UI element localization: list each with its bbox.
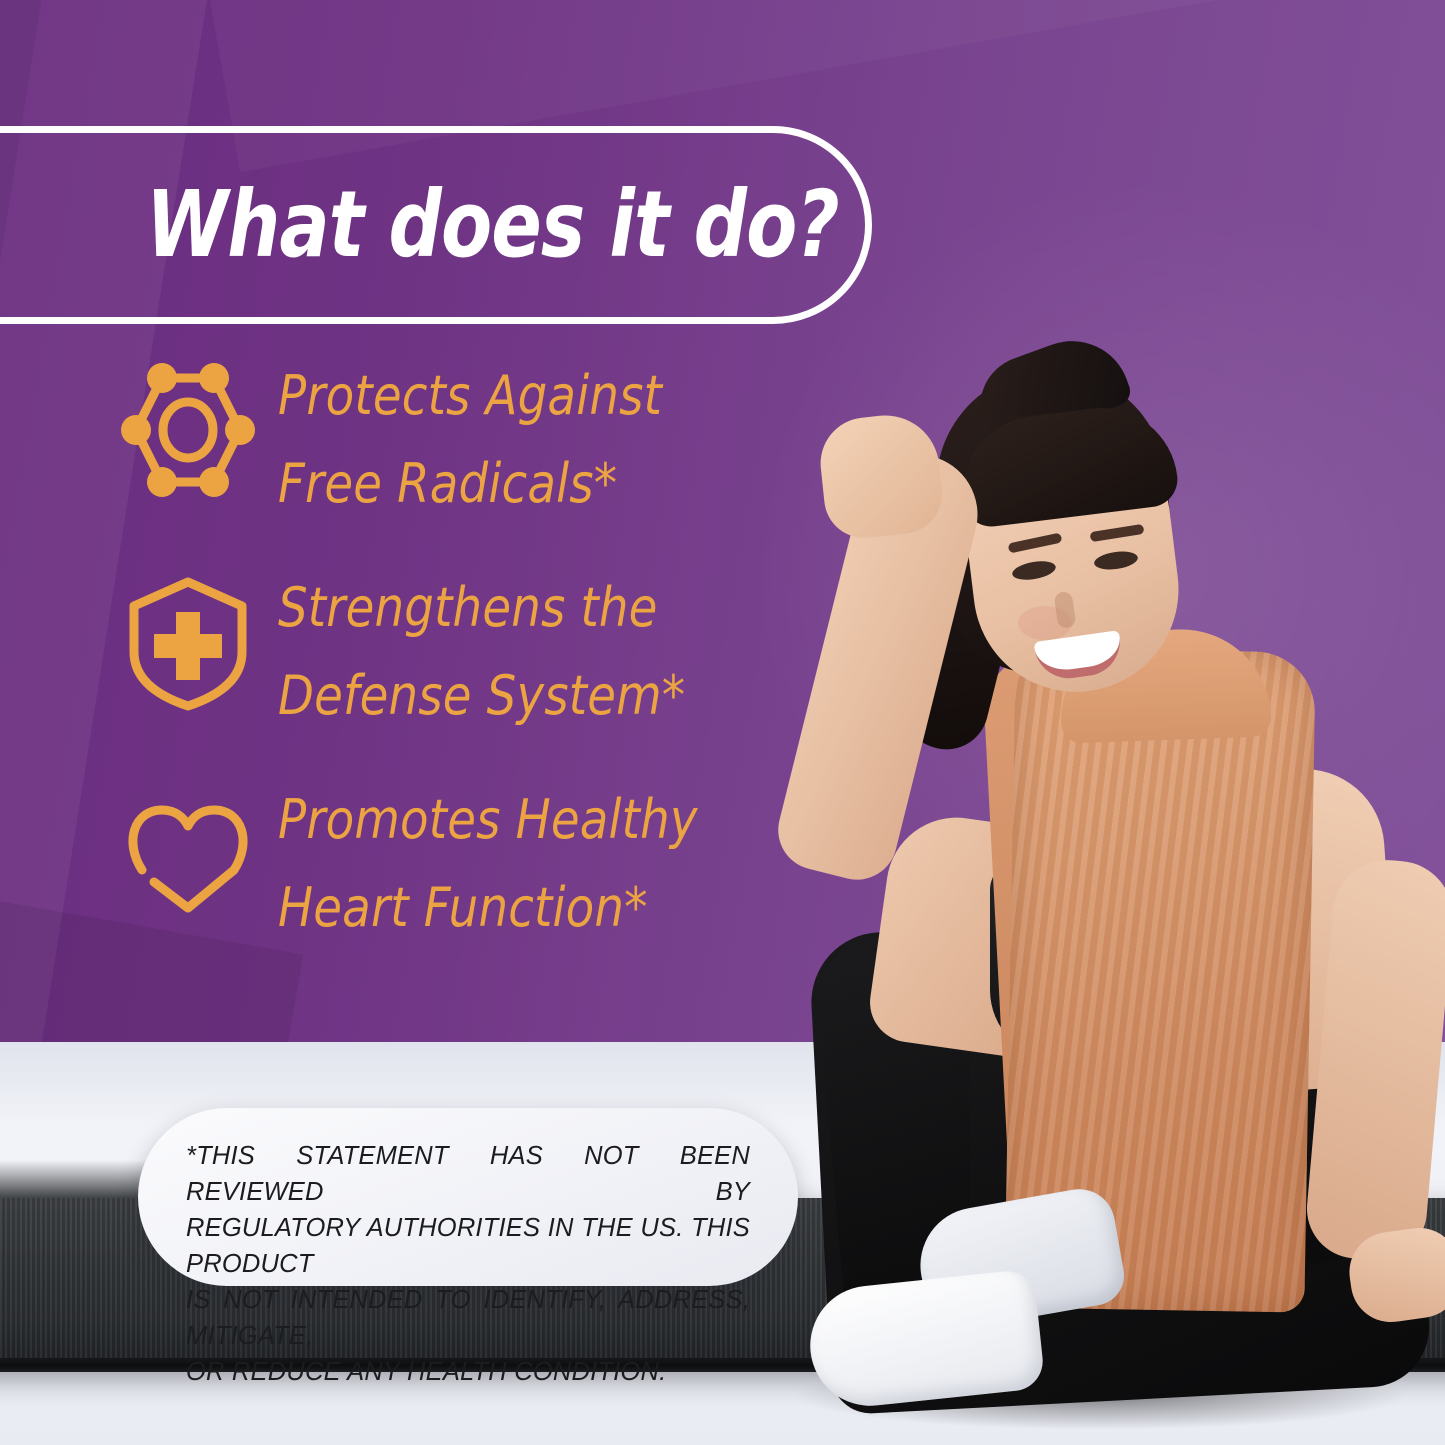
benefit-line-1: Protects Against xyxy=(278,352,777,440)
benefit-text: Promotes Healthy Heart Function* xyxy=(278,776,798,952)
model-photo xyxy=(760,300,1445,1400)
benefit-item-defense-system: Strengthens the Defense System* xyxy=(0,564,820,776)
disclaimer-box: *THIS STATEMENT HAS NOT BEEN REVIEWED BY… xyxy=(138,1108,798,1286)
benefit-line-2: Heart Function* xyxy=(278,864,777,952)
benefit-line-2: Defense System* xyxy=(278,652,777,740)
benefits-list: Protects Against Free Radicals* Strength… xyxy=(0,352,820,988)
page-title: What does it do? xyxy=(146,163,794,293)
benefit-text: Strengthens the Defense System* xyxy=(278,564,798,740)
disclaimer-line-4: OR REDUCE ANY HEALTH CONDITION. xyxy=(186,1354,750,1390)
benefit-line-1: Strengthens the xyxy=(278,564,777,652)
disclaimer-line-1: *THIS STATEMENT HAS NOT BEEN REVIEWED BY xyxy=(186,1138,750,1210)
benefit-line-2: Free Radicals* xyxy=(278,440,777,528)
hand-on-head xyxy=(816,410,946,542)
molecule-hexagon-icon xyxy=(118,360,258,500)
heart-outline-icon xyxy=(118,784,258,924)
benefit-line-1: Promotes Healthy xyxy=(278,776,777,864)
benefit-text: Protects Against Free Radicals* xyxy=(278,352,798,528)
disclaimer-line-2: REGULATORY AUTHORITIES IN THE US. THIS P… xyxy=(186,1210,750,1282)
disclaimer-line-3: IS NOT INTENDED TO IDENTIFY, ADDRESS, MI… xyxy=(186,1282,750,1354)
benefit-item-free-radicals: Protects Against Free Radicals* xyxy=(0,352,820,564)
infographic-stage: What does it do? Protects Against Free R… xyxy=(0,0,1445,1445)
disclaimer-text: *THIS STATEMENT HAS NOT BEEN REVIEWED BY… xyxy=(186,1138,750,1390)
benefit-item-heart-function: Promotes Healthy Heart Function* xyxy=(0,776,820,988)
shield-plus-icon xyxy=(118,572,258,712)
